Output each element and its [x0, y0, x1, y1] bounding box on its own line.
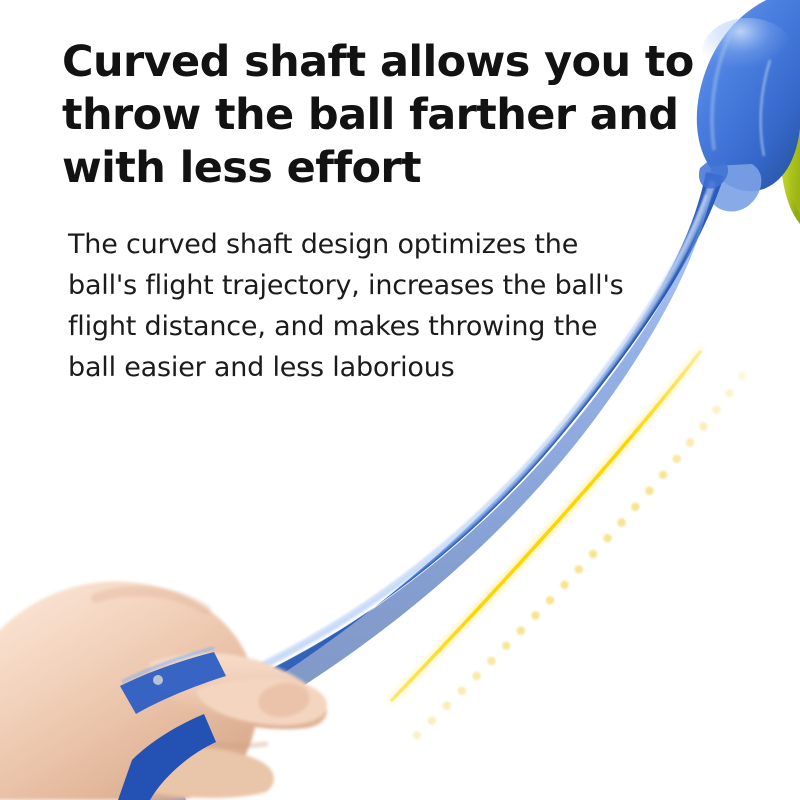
product-photo-illustration [0, 0, 800, 800]
product-feature-image: Curved shaft allows you to throw the bal… [0, 0, 800, 800]
handle-rivet [153, 675, 163, 685]
